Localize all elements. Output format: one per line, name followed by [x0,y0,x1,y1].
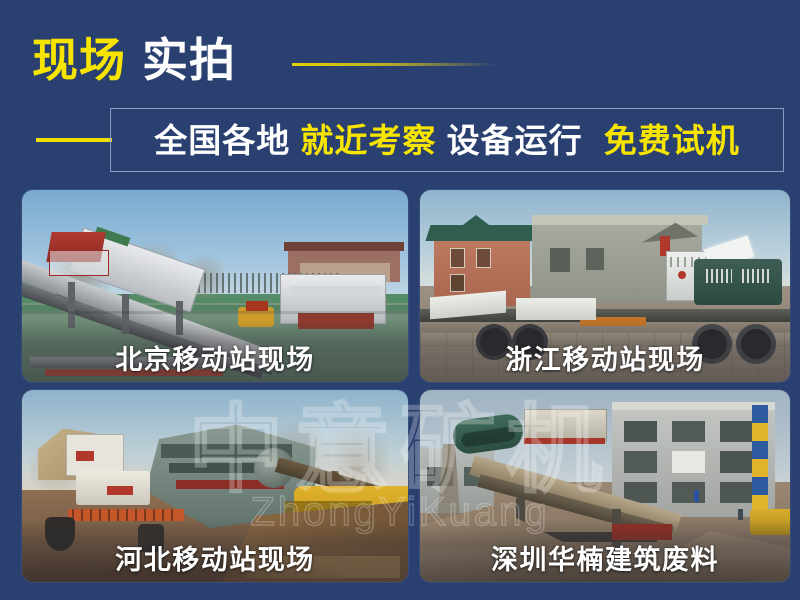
gallery-caption-text: 深圳华楠建筑废料 [491,546,719,576]
gallery-caption: 北京移动站现场 [22,320,408,382]
gallery-caption: 深圳华楠建筑废料 [420,520,790,582]
gallery-caption-text: 河北移动站现场 [115,546,315,576]
gallery-caption: 浙江移动站现场 [420,320,790,382]
subtitle-text: 全国各地 就近考察 设备运行 免费试机 [154,124,740,157]
subtitle-segment-2: 就近考察 [300,122,436,159]
gallery-item-beijing[interactable]: 北京移动站现场 [22,190,408,382]
gallery-item-hebei[interactable]: 河北移动站现场 [22,390,408,582]
gallery-caption-text: 浙江移动站现场 [505,346,705,376]
subtitle-segment-4: 免费试机 [604,122,740,159]
subtitle-segment-1: 全国各地 [154,122,290,159]
horizontal-rule-divider-icon [292,63,522,66]
gallery-caption: 河北移动站现场 [22,520,408,582]
gallery-item-zhejiang[interactable]: 浙江移动站现场 [420,190,790,382]
page-title-rest: 实拍 [142,37,236,83]
subtitle-segment-3: 设备运行 [447,122,583,159]
gallery-caption-text: 北京移动站现场 [115,346,315,376]
page-title-highlight: 现场 [32,37,126,83]
subtitle-box: 全国各地 就近考察 设备运行 免费试机 [110,108,784,172]
horizontal-rule-short-icon [36,138,112,142]
page-title: 现场 实拍 [32,28,236,92]
promo-banner: 现场 实拍 全国各地 就近考察 设备运行 免费试机 [0,0,800,600]
gallery-item-shenzhen[interactable]: 深圳华楠建筑废料 [420,390,790,582]
